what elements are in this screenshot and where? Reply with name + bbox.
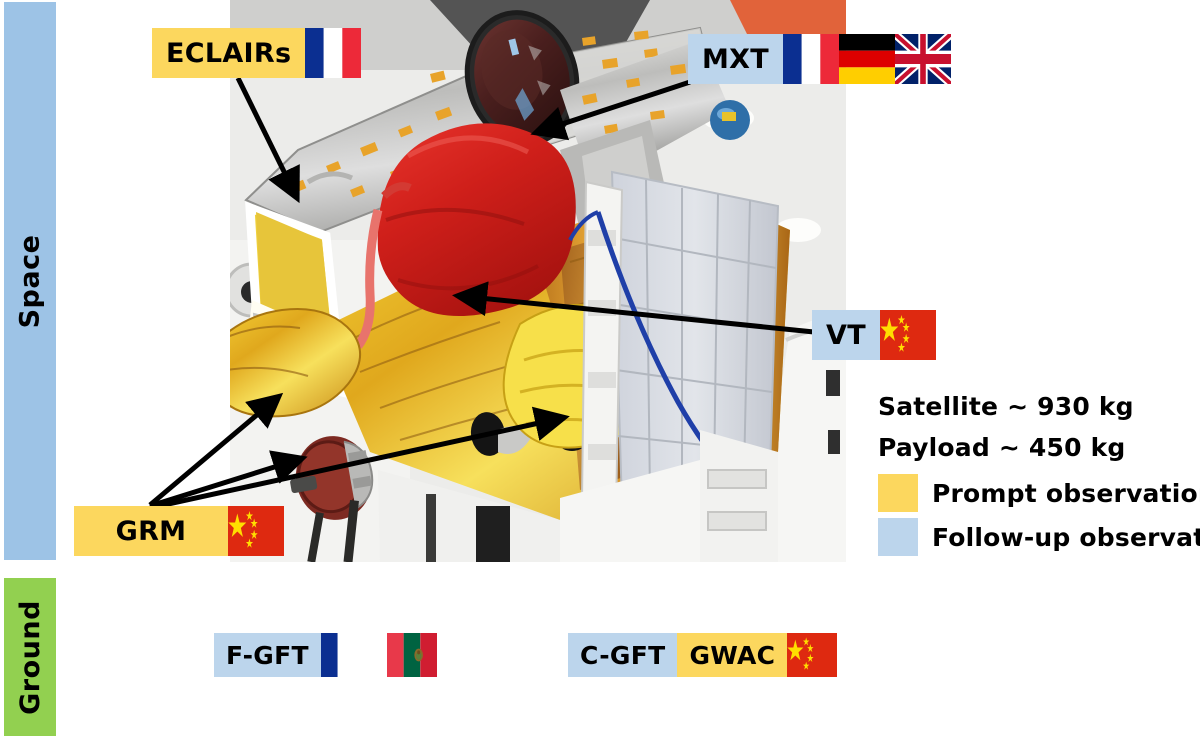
ground-label-fgft-text: F-GFT xyxy=(214,633,321,677)
legend-item-followup: Follow-up observation xyxy=(878,518,1198,556)
flag-france-icon xyxy=(305,28,361,78)
legend-swatch-followup xyxy=(878,518,918,556)
instrument-label-eclairs-text: ECLAIRs xyxy=(152,28,305,78)
ground-label-fgft[interactable]: F-GFT xyxy=(214,633,437,677)
category-bar-ground: Ground xyxy=(4,578,56,736)
category-label-space: Space xyxy=(15,234,46,328)
category-label-ground: Ground xyxy=(15,600,46,715)
flag-germany-icon xyxy=(839,34,895,84)
instrument-label-vt-text: VT xyxy=(812,310,880,360)
ground-label-gwac-text: GWAC xyxy=(677,633,787,677)
instrument-label-vt[interactable]: VT xyxy=(812,310,936,360)
flag-france-icon xyxy=(321,633,371,677)
legend-label-followup: Follow-up observation xyxy=(932,523,1200,552)
flag-china-icon xyxy=(228,506,284,556)
instrument-label-grm-text: GRM xyxy=(74,506,228,556)
ground-label-cgft-text: C-GFT xyxy=(568,633,677,677)
category-bar-space: Space xyxy=(4,2,56,560)
flag-uk-icon xyxy=(895,34,951,84)
diagram-root: Space Ground xyxy=(0,0,1200,746)
satellite-photo xyxy=(230,0,846,562)
ground-label-cgft-gwac[interactable]: C-GFT GWAC xyxy=(568,633,837,677)
payload-mass-text: Payload ~ 450 kg xyxy=(878,433,1198,462)
satellite-mass-text: Satellite ~ 930 kg xyxy=(878,392,1198,421)
flag-france-icon xyxy=(783,34,839,84)
legend-label-prompt: Prompt observation xyxy=(932,479,1200,508)
legend-item-prompt: Prompt observation xyxy=(878,474,1198,512)
legend-swatch-prompt xyxy=(878,474,918,512)
instrument-label-mxt[interactable]: MXT xyxy=(688,34,951,84)
instrument-label-mxt-text: MXT xyxy=(688,34,783,84)
flag-mexico-icon xyxy=(387,633,437,677)
label-spacer xyxy=(371,633,387,677)
info-panel: Satellite ~ 930 kg Payload ~ 450 kg Prom… xyxy=(878,392,1198,562)
instrument-label-eclairs[interactable]: ECLAIRs xyxy=(152,28,361,78)
flag-china-icon xyxy=(787,633,837,677)
flag-china-icon xyxy=(880,310,936,360)
instrument-label-grm[interactable]: GRM xyxy=(74,506,284,556)
